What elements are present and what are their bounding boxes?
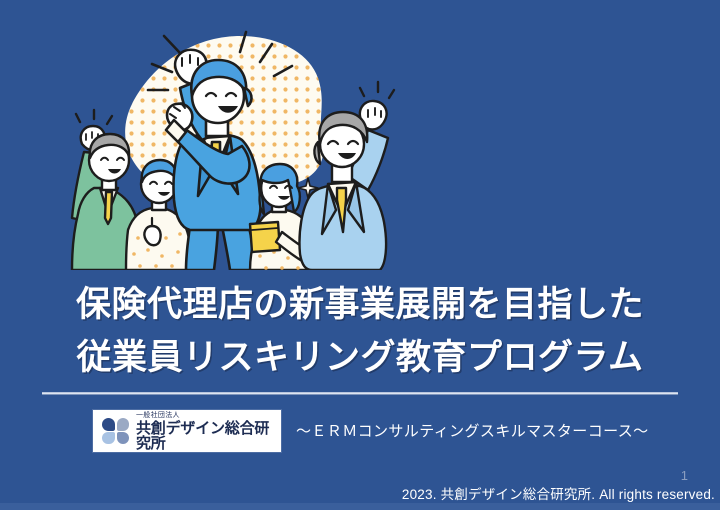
- horizontal-divider: [42, 392, 678, 395]
- cheering-business-team-illustration: [60, 18, 400, 270]
- page-title: 保険代理店の新事業展開を目指した 従業員リスキリング教育プログラム: [0, 278, 720, 384]
- logo-org-name: 共創デザイン総合研究所: [136, 421, 281, 451]
- page-number: 1: [681, 468, 688, 483]
- four-petal-logo-icon: [102, 418, 129, 444]
- course-subtitle: 〜ＥＲＭコンサルティングスキルマスターコース〜: [296, 420, 676, 441]
- organization-logo: 一般社団法人 共創デザイン総合研究所: [93, 410, 281, 452]
- copyright-footer: 2023. 共創デザイン総合研究所. All rights reserved.: [402, 483, 715, 503]
- footer-strip: [0, 503, 720, 510]
- title-line-1: 保険代理店の新事業展開を目指した: [0, 278, 720, 331]
- logo-text-group: 一般社団法人 共創デザイン総合研究所: [136, 412, 281, 451]
- title-line-2: 従業員リスキリング教育プログラム: [0, 331, 720, 384]
- logo-org-type: 一般社団法人: [136, 412, 281, 419]
- title-slide: 保険代理店の新事業展開を目指した 従業員リスキリング教育プログラム 一般社団法人…: [0, 0, 720, 510]
